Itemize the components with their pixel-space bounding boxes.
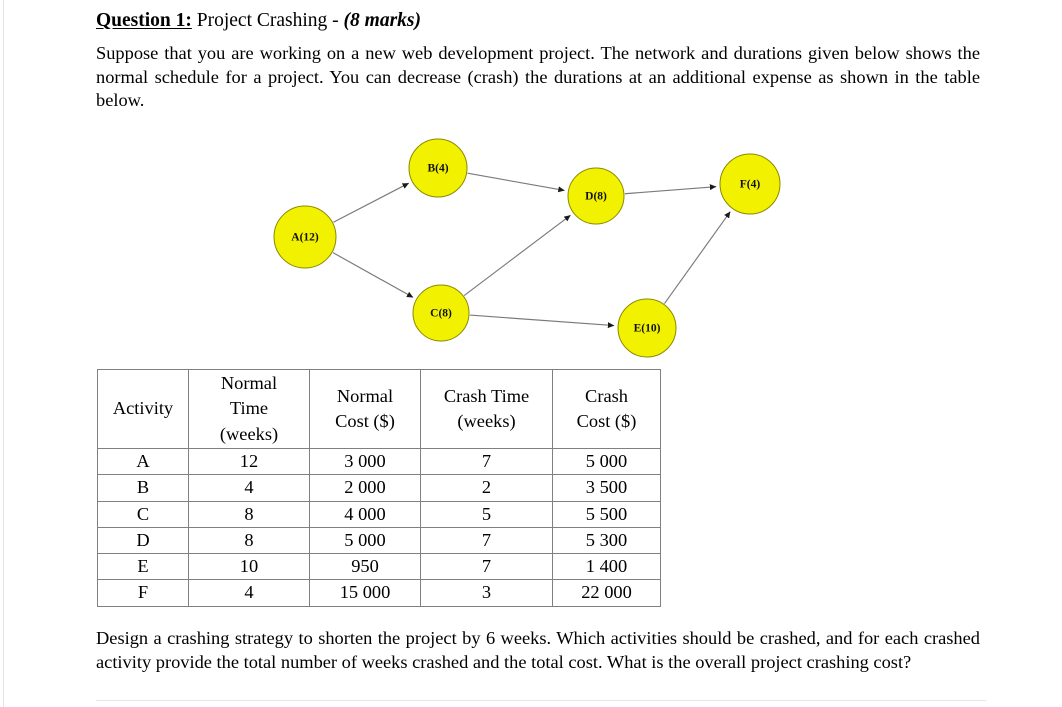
node-label-e: E(10) <box>634 323 661 335</box>
document-body: Question 1: Project Crashing - (8 marks)… <box>96 0 986 113</box>
network-node-d: D(8) <box>568 168 624 224</box>
table-header-cell-0: Activity <box>98 370 189 449</box>
table-cell-normal-cost: 2 000 <box>310 475 421 501</box>
table-body: A123 00075 000B42 00023 500C84 00055 500… <box>98 449 661 607</box>
table-row: D85 00075 300 <box>98 527 661 553</box>
table-cell-crash-cost: 5 000 <box>553 449 661 475</box>
project-network-diagram: A(12)B(4)C(8)D(8)E(10)F(4) <box>0 125 1062 365</box>
table-cell-normal-time: 4 <box>189 475 310 501</box>
table-header-line: Time <box>193 396 305 421</box>
table-row: C84 00055 500 <box>98 501 661 527</box>
table-header-cell-3: Crash Time(weeks) <box>421 370 553 449</box>
table-cell-activity: A <box>98 449 189 475</box>
table-cell-normal-time: 8 <box>189 527 310 553</box>
network-node-b: B(4) <box>409 139 467 197</box>
table-cell-crash-time: 7 <box>421 554 553 580</box>
question-number-label: Question 1: <box>96 10 192 31</box>
table-cell-normal-time: 10 <box>189 554 310 580</box>
table-cell-crash-cost: 22 000 <box>553 580 661 606</box>
table-header-line: Crash Time <box>425 384 548 409</box>
table-cell-normal-time: 4 <box>189 580 310 606</box>
table-cell-crash-cost: 5 500 <box>553 501 661 527</box>
table-cell-activity: E <box>98 554 189 580</box>
table-cell-crash-cost: 1 400 <box>553 554 661 580</box>
table-header-cell-1: NormalTime(weeks) <box>189 370 310 449</box>
network-edge-b-d <box>468 173 565 190</box>
table-header-line: (weeks) <box>193 422 305 447</box>
table-row: F415 000322 000 <box>98 580 661 606</box>
node-label-c: C(8) <box>430 308 452 320</box>
table-cell-activity: F <box>98 580 189 606</box>
question-title: Project Crashing - <box>197 10 339 31</box>
table-header-line: Cost ($) <box>557 409 656 434</box>
table-header-cell-2: NormalCost ($) <box>310 370 421 449</box>
node-label-d: D(8) <box>585 191 607 203</box>
network-edge-c-d <box>464 215 570 295</box>
question-marks: (8 marks) <box>344 10 421 31</box>
page-bottom-rule <box>96 700 986 701</box>
table-header-line: (weeks) <box>425 409 548 434</box>
table-cell-normal-time: 8 <box>189 501 310 527</box>
table-cell-activity: B <box>98 475 189 501</box>
table-header-cell-4: CrashCost ($) <box>553 370 661 449</box>
table-cell-activity: C <box>98 501 189 527</box>
table-header-line: Cost ($) <box>314 409 416 434</box>
network-edge-layer <box>333 173 730 325</box>
network-edge-a-c <box>333 253 413 298</box>
network-svg: A(12)B(4)C(8)D(8)E(10)F(4) <box>0 125 1062 365</box>
table-header-row: ActivityNormalTime(weeks)NormalCost ($)C… <box>98 370 661 449</box>
table-cell-crash-time: 3 <box>421 580 553 606</box>
intro-paragraph: Suppose that you are working on a new we… <box>96 42 980 113</box>
table-cell-normal-time: 12 <box>189 449 310 475</box>
table-cell-crash-time: 7 <box>421 527 553 553</box>
network-node-f: F(4) <box>720 154 780 214</box>
table-header-line: Normal <box>193 371 305 396</box>
node-label-b: B(4) <box>427 163 448 175</box>
table-row: E1095071 400 <box>98 554 661 580</box>
table-cell-crash-cost: 3 500 <box>553 475 661 501</box>
table-cell-normal-cost: 5 000 <box>310 527 421 553</box>
outro-paragraph: Design a crashing strategy to shorten th… <box>96 627 980 674</box>
network-node-e: E(10) <box>618 299 676 357</box>
table-header-line: Normal <box>314 384 416 409</box>
network-edge-e-f <box>664 212 730 304</box>
table-cell-normal-cost: 15 000 <box>310 580 421 606</box>
crash-data-table: ActivityNormalTime(weeks)NormalCost ($)C… <box>97 369 661 607</box>
outro-block: Design a crashing strategy to shorten th… <box>96 627 986 674</box>
node-label-f: F(4) <box>740 179 761 191</box>
network-edge-d-f <box>625 187 716 194</box>
table-header-line: Activity <box>102 396 184 421</box>
table-cell-crash-time: 2 <box>421 475 553 501</box>
network-edge-c-e <box>470 315 614 325</box>
question-heading: Question 1: Project Crashing - (8 marks) <box>96 9 986 33</box>
node-label-a: A(12) <box>291 232 319 244</box>
table-cell-normal-cost: 3 000 <box>310 449 421 475</box>
table-row: B42 00023 500 <box>98 475 661 501</box>
crash-data-table-wrapper: ActivityNormalTime(weeks)NormalCost ($)C… <box>97 369 661 607</box>
table-cell-normal-cost: 950 <box>310 554 421 580</box>
network-edge-a-b <box>333 183 408 222</box>
table-cell-crash-time: 7 <box>421 449 553 475</box>
table-cell-crash-time: 5 <box>421 501 553 527</box>
network-node-c: C(8) <box>413 285 469 341</box>
table-cell-activity: D <box>98 527 189 553</box>
network-node-a: A(12) <box>274 206 336 268</box>
table-cell-crash-cost: 5 300 <box>553 527 661 553</box>
table-cell-normal-cost: 4 000 <box>310 501 421 527</box>
table-header-line: Crash <box>557 384 656 409</box>
table-row: A123 00075 000 <box>98 449 661 475</box>
